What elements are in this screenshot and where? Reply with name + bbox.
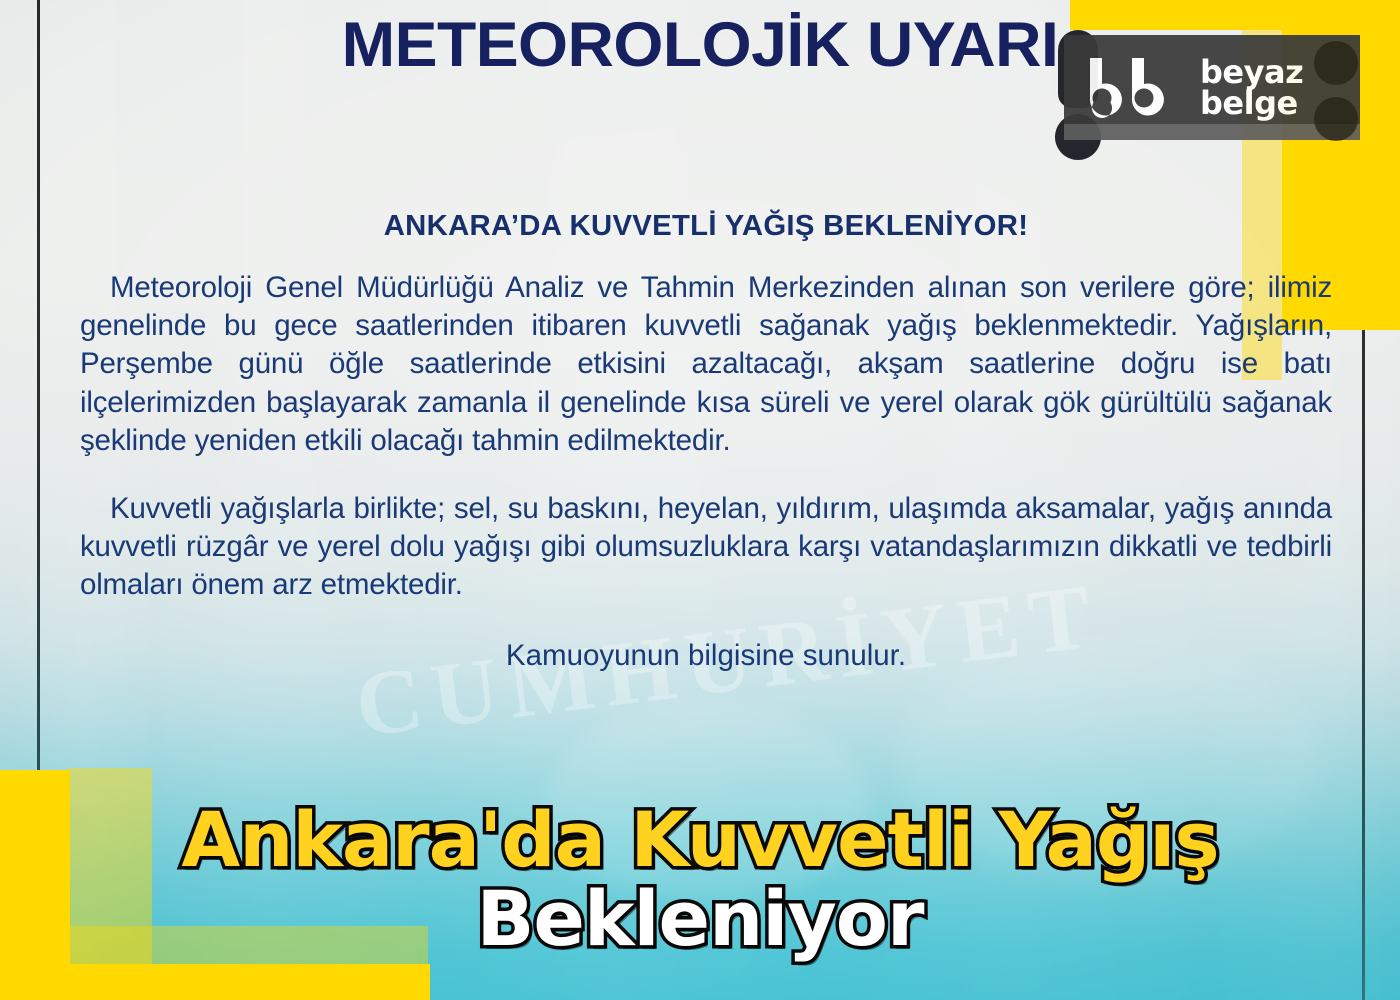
frame-accent-bottom-bar (0, 964, 430, 1000)
logo-word-line-1: beyaz (1200, 57, 1303, 88)
announcement-document: ANKARA’DA KUVVETLİ YAĞIŞ BEKLENİYOR! Met… (80, 210, 1332, 673)
announcement-paragraph-2: Kuvvetli yağışlarla birlikte; sel, su ba… (80, 490, 1332, 605)
logo-wordmark: beyaz belge (1200, 57, 1303, 118)
announcement-heading: ANKARA’DA KUVVETLİ YAĞIŞ BEKLENİYOR! (74, 210, 1339, 243)
logo-word-line-2: belge (1200, 88, 1303, 119)
announcement-closing-line: Kamuoyunun bilgisine sunulur. (80, 639, 1332, 673)
news-graphic-canvas: CUMHURİYET METEOROLOJİK UYARI beyaz belg… (0, 0, 1400, 1000)
logo-pin-dot-bottom (1314, 97, 1358, 141)
logo-pin-dots (1304, 35, 1364, 140)
announcement-paragraph-1: Meteoroloji Genel Müdürlüğü Analiz ve Ta… (80, 269, 1332, 460)
headline-line-1: Ankara'da Kuvvetli Yağış (0, 801, 1400, 879)
headline-line-2: Bekleniyor (0, 880, 1400, 958)
beyaz-belge-logo-watermark: beyaz belge (1064, 35, 1360, 140)
headline-banner: Ankara'da Kuvvetli Yağış Bekleniyor (0, 801, 1400, 958)
bb-monogram-icon (1082, 56, 1186, 120)
logo-pin-dot-top (1314, 41, 1358, 85)
